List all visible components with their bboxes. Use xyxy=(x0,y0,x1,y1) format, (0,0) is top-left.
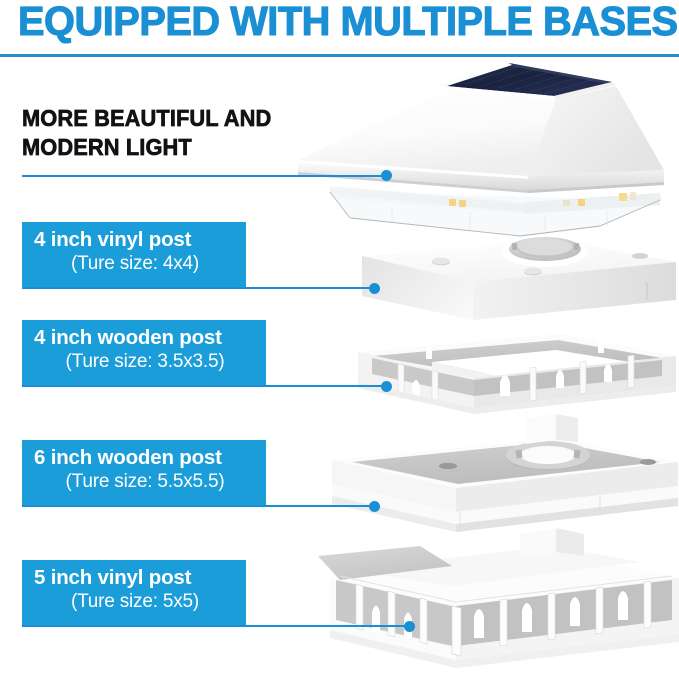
part-solar-cap xyxy=(298,63,664,236)
callout-title-vinyl-post-5: 5 inch vinyl post xyxy=(34,565,236,590)
led-chips xyxy=(449,192,636,207)
leader-dot-vinyl-post-5 xyxy=(404,621,415,632)
solar-panel xyxy=(446,63,612,96)
ribs-left xyxy=(356,584,427,644)
callout-title-wooden-post-4: 4 inch wooden post xyxy=(34,325,256,350)
leader-dot-solar-cap xyxy=(381,170,392,181)
callout-title-wooden-post-6: 6 inch wooden post xyxy=(34,445,256,470)
led-lens-skirt xyxy=(330,186,662,212)
ribs-right xyxy=(500,581,651,646)
callout-subtitle-vinyl-post-5: (Ture size: 5x5) xyxy=(34,590,236,614)
callout-subtitle-wooden-post-6: (Ture size: 5.5x5.5) xyxy=(34,470,256,494)
part-wooden-6-adapter xyxy=(332,414,678,532)
callout-vinyl-post-4[interactable]: 4 inch vinyl post (Ture size: 4x4) xyxy=(22,222,246,288)
callout-subtitle-vinyl-post-4: (Ture size: 4x4) xyxy=(34,252,236,276)
leader-line-solar-cap xyxy=(22,175,388,177)
callout-vinyl-post-5[interactable]: 5 inch vinyl post (Ture size: 5x5) xyxy=(22,560,246,626)
collar-ring xyxy=(509,237,581,261)
subtitle-line-1: MORE BEAUTIFUL AND xyxy=(22,104,307,133)
leader-line-wooden-post-6 xyxy=(22,505,375,507)
title-divider xyxy=(0,54,679,57)
leader-line-vinyl-post-5 xyxy=(22,625,410,627)
leader-dot-wooden-post-4 xyxy=(381,381,392,392)
part-vinyl-5-base xyxy=(318,528,679,668)
ribs xyxy=(398,355,634,404)
subtitle-heading: MORE BEAUTIFUL AND MODERN LIGHT xyxy=(22,104,307,162)
callout-wooden-post-6[interactable]: 6 inch wooden post (Ture size: 5.5x5.5) xyxy=(22,440,266,506)
page-title: EQUIPPED WITH MULTIPLE BASES xyxy=(18,0,644,46)
part-vinyl-4-adapter xyxy=(362,237,676,320)
callout-subtitle-wooden-post-4: (Ture size: 3.5x3.5) xyxy=(34,350,256,374)
part-wooden-4-adapter xyxy=(358,334,676,414)
subtitle-line-2: MODERN LIGHT xyxy=(22,133,307,162)
collar-ring-6 xyxy=(506,441,590,469)
leader-dot-vinyl-post-4 xyxy=(369,283,380,294)
infographic-canvas: EQUIPPED WITH MULTIPLE BASES MORE BEAUTI… xyxy=(0,0,679,680)
callout-title-vinyl-post-4: 4 inch vinyl post xyxy=(34,227,236,252)
leader-line-vinyl-post-4 xyxy=(22,287,375,289)
leader-dot-wooden-post-6 xyxy=(369,501,380,512)
callout-wooden-post-4[interactable]: 4 inch wooden post (Ture size: 3.5x3.5) xyxy=(22,320,266,386)
leader-line-wooden-post-4 xyxy=(22,385,387,387)
